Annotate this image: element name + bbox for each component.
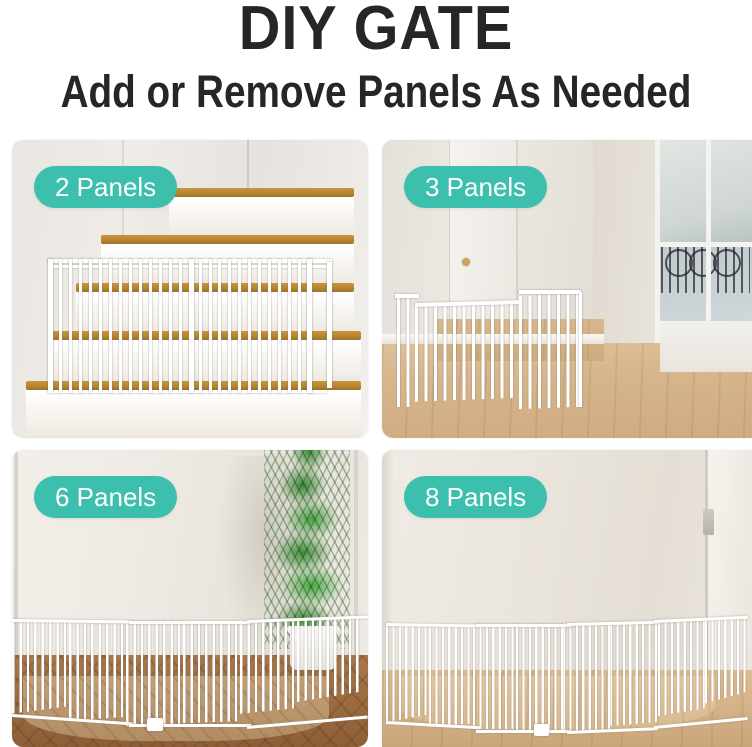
safety-gate-6-panels [12,616,368,735]
gate-panel [473,624,517,729]
gate-bar [159,259,162,393]
gate-bar [209,259,212,393]
stair-led-glow [169,197,354,210]
gate-panel-right-rail [519,290,581,294]
gate-panel [563,623,610,732]
gate-bar [199,259,202,393]
gate-panel [610,621,657,726]
window-lower-panel [660,321,752,372]
gate-bar [59,259,62,393]
gate-bar [218,259,221,393]
gate-bar [139,259,142,393]
gate-panel [12,619,69,714]
gate-panel-left-rail [395,294,419,298]
panel-count-badge-2: 2 Panels [34,166,177,208]
gate-panel-right [519,292,581,410]
gate-panel [297,616,361,702]
gate-bar [288,259,291,393]
french-balcony-window [655,140,752,372]
gate-bar [298,259,301,393]
panel-count-badge-6: 6 Panels [34,476,177,518]
gate-extension-post [327,262,332,388]
door-knob-icon [462,258,470,266]
door-lock-plate-icon [703,509,714,535]
gate-bottom-rail [247,715,368,729]
page-subtitle: Add or Remove Panels As Needed [53,68,700,116]
gate-panel [183,621,240,723]
gate-panel-left [397,297,415,407]
gate-end-post [579,292,582,407]
safety-gate-2-panels [48,259,333,393]
safety-gate-8-panels [386,616,749,741]
gate-bar [149,259,152,393]
gate-panel [429,625,473,727]
gate-panel [658,619,705,716]
gate-bar [89,259,92,393]
window-mullion-horizontal [660,242,752,247]
gate-panel-door [126,621,183,726]
gate-door-latch[interactable] [147,718,163,731]
gate-top-rail [476,624,570,627]
gate-bar [278,259,281,393]
page-title: DIY GATE [26,0,725,60]
gate-bar [228,259,231,393]
gate-bar [119,259,122,393]
panel-count-badge-3: 3 Panels [404,166,547,208]
photo-cell-2-panels: 2 Panels [12,140,368,438]
gate-bar [69,259,72,393]
photo-cell-8-panels: 8 Panels [382,450,752,747]
gate-left-post [48,259,53,393]
stair-nosing [169,188,354,197]
photo-cell-3-panels: 3 Panels [382,140,752,438]
gate-bar [129,259,132,393]
safety-gate-3-panels [397,289,619,414]
gate-panel [69,621,126,721]
gate-bar [258,259,261,393]
panel-count-badge-8: 8 Panels [404,476,547,518]
gate-panel [705,616,749,703]
gate-bottom-rail [654,717,748,729]
gate-bar [169,259,172,393]
stair-step [169,188,354,239]
gate-bar [238,259,241,393]
stair-nosing [101,235,354,244]
gate-right-post [307,259,312,393]
gate-bar [268,259,271,393]
gate-bar [99,259,102,393]
panel-configuration-grid: 2 Panels [0,136,752,747]
window-mullion-vertical [706,140,711,321]
gate-panel-middle [415,304,519,402]
header-banner: DIY GATE Add or Remove Panels As Needed [0,0,752,136]
gate-top-rail [129,621,250,624]
gate-panel-door [516,624,563,731]
gate-door-latch[interactable] [534,724,549,736]
stair-led-glow [101,244,354,257]
photo-cell-6-panels: 6 Panels [12,450,368,747]
gate-bottom-rail [476,730,570,733]
gate-bar [248,259,251,393]
gate-panel [386,623,430,723]
gate-center-post [189,259,194,393]
gate-panel [240,619,297,714]
gate-bar [179,259,182,393]
gate-bar [79,259,82,393]
gate-bar [109,259,112,393]
